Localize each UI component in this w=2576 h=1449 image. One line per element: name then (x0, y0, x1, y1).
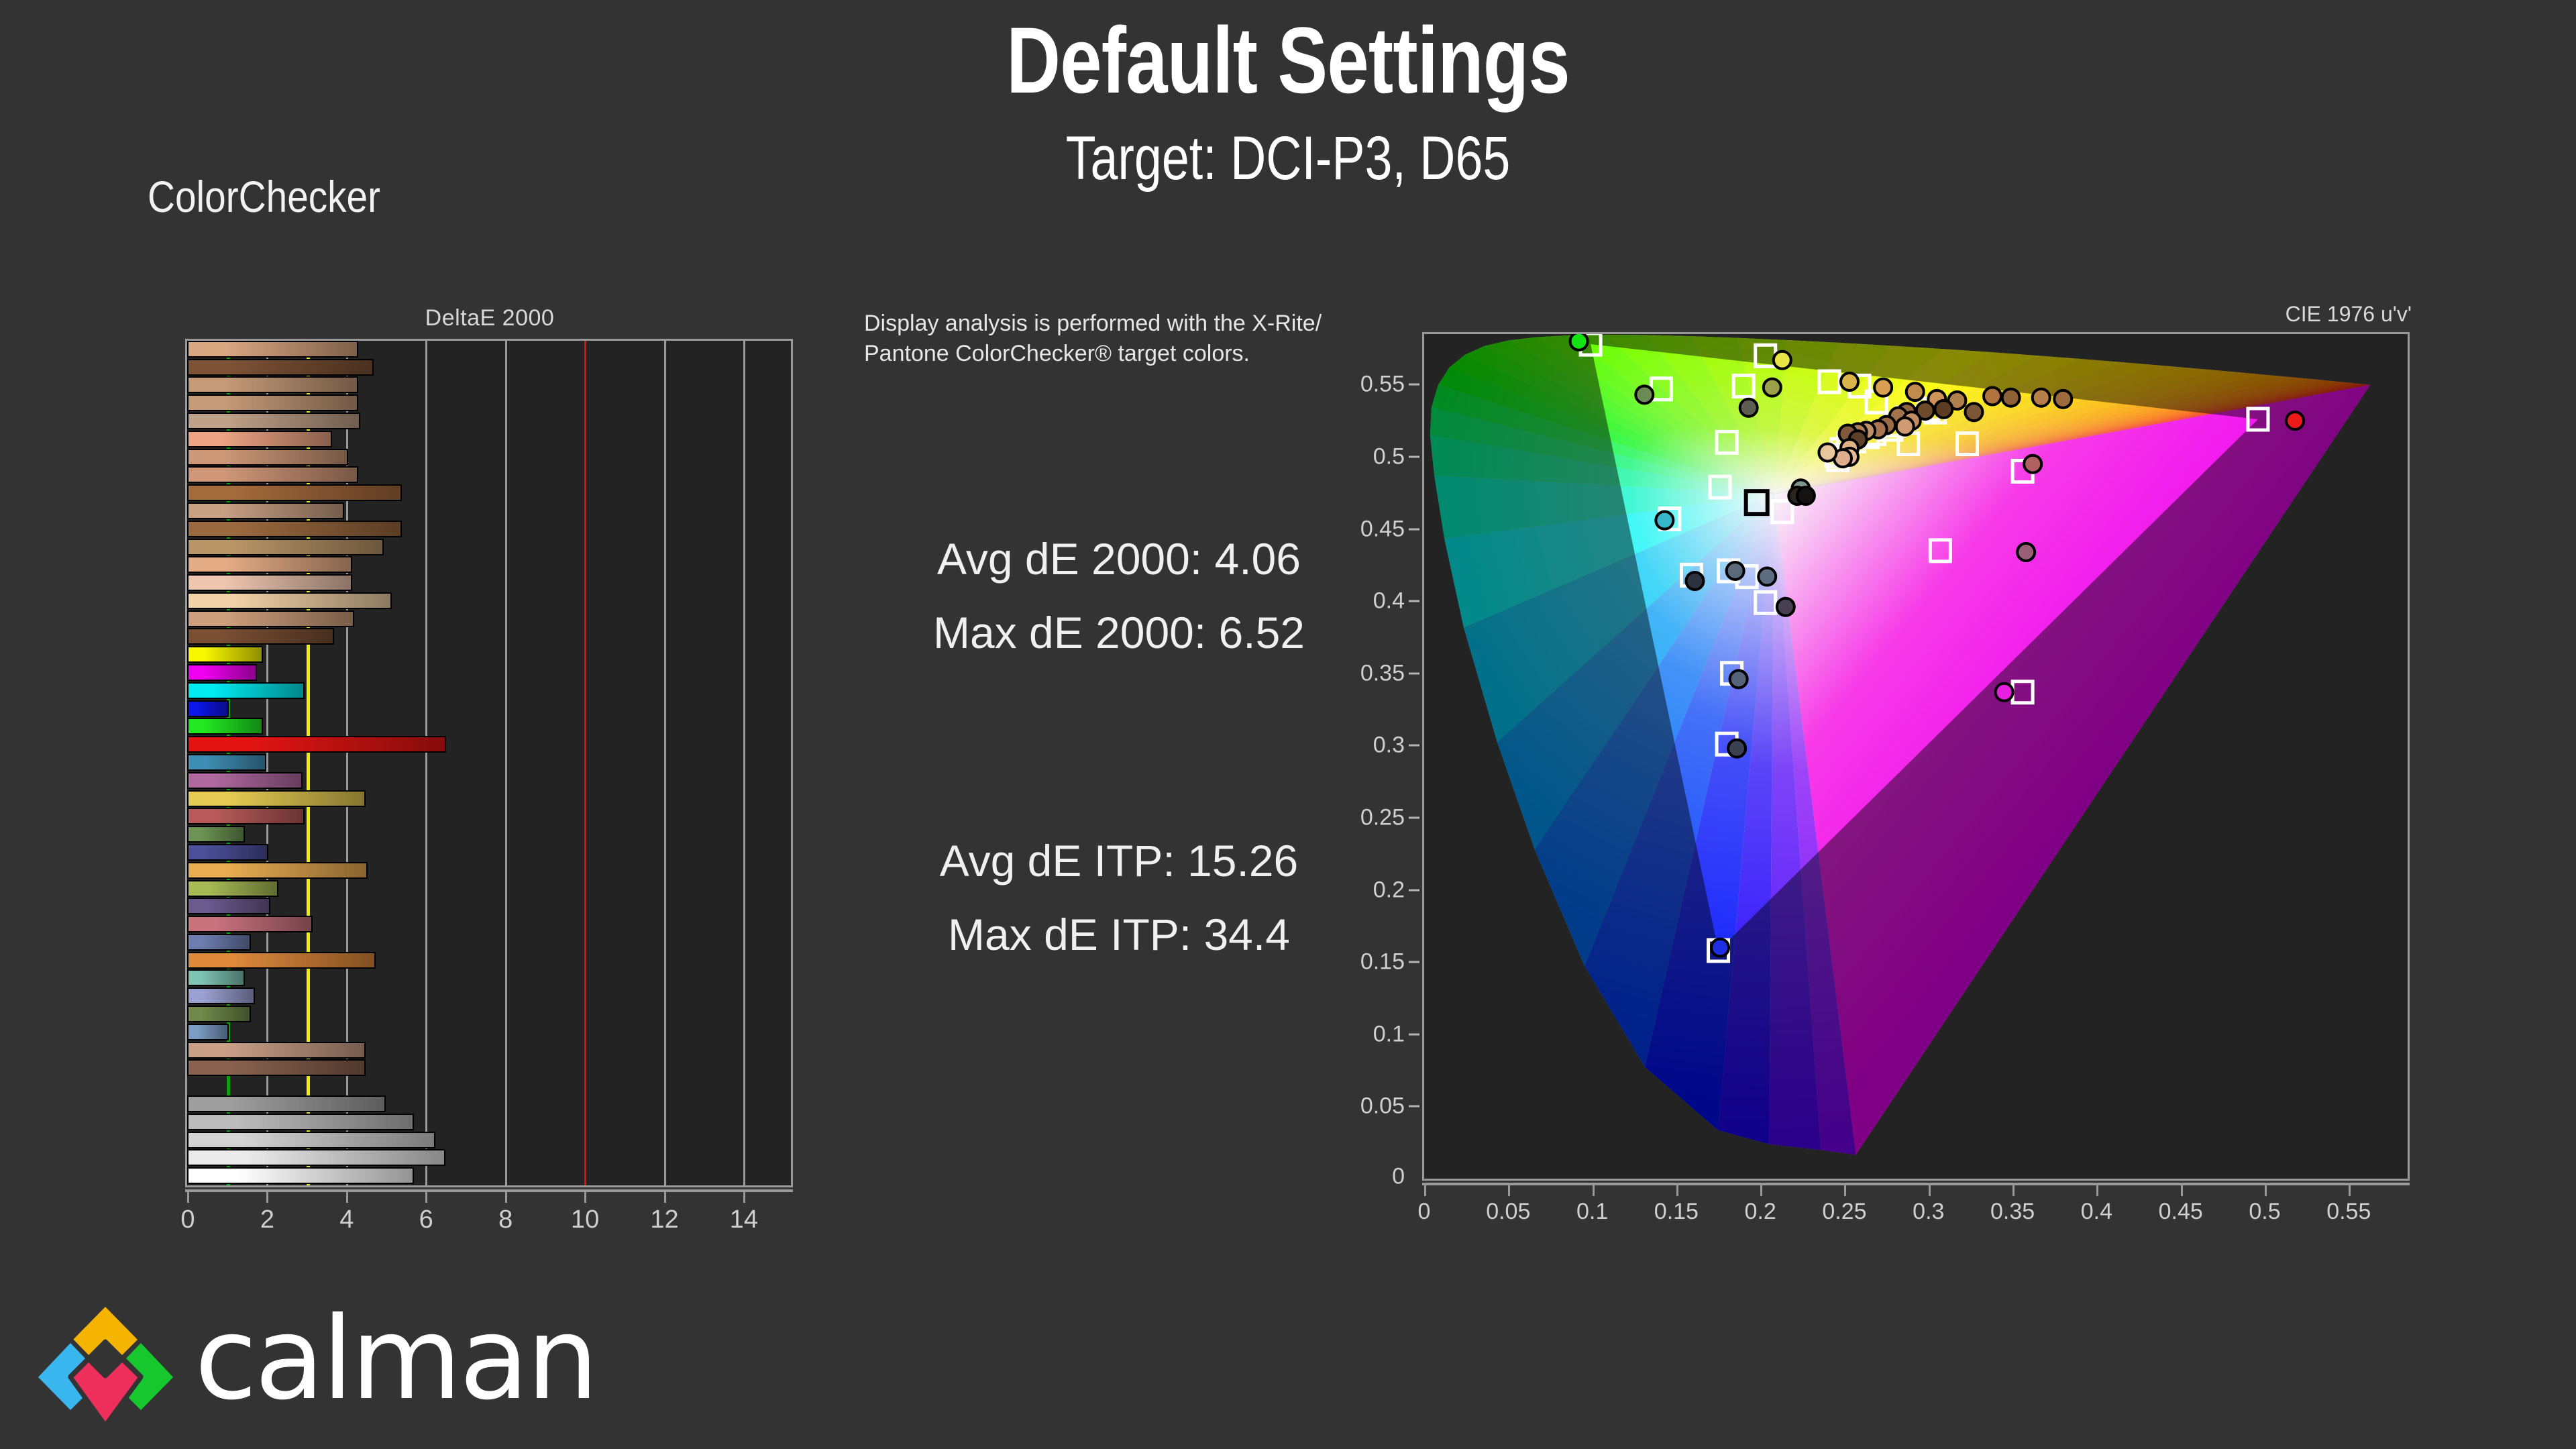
x-tick (2012, 1183, 2015, 1196)
deltae-bar (187, 556, 352, 573)
y-tick-label: 0.55 (1360, 372, 1405, 398)
deltae-bar (187, 466, 358, 483)
x-tick (505, 1189, 507, 1203)
cie-chromaticity-panel: CIE 1976 u'v' 00.050.10.150.20.250.30.35… (1368, 302, 2415, 1214)
x-tick-label: 12 (650, 1205, 678, 1234)
deltae-bar (187, 1167, 414, 1184)
x-tick-label: 0.35 (1990, 1199, 2035, 1225)
deltae-bar (187, 916, 313, 932)
colorchecker-section-label: ColorChecker (148, 171, 380, 222)
x-tick (1508, 1183, 1510, 1196)
measurement-point (2054, 390, 2072, 408)
y-tick-label: 0 (1392, 1164, 1405, 1190)
x-tick (1844, 1183, 1846, 1196)
stat-max-de2000: Max dE 2000: 6.52 (864, 607, 1374, 658)
y-tick-label: 0.05 (1360, 1093, 1405, 1120)
y-tick (1409, 672, 1419, 674)
y-tick-label: 0.1 (1373, 1021, 1405, 1047)
x-tick (1593, 1183, 1595, 1196)
stat-max-deitp: Max dE ITP: 34.4 (864, 909, 1374, 960)
analysis-note: Display analysis is performed with the X… (864, 309, 1374, 369)
deltae-bar (187, 862, 368, 879)
measurement-point (1996, 684, 2013, 701)
cie-plot-area (1422, 332, 2410, 1181)
red-threshold (584, 341, 586, 1185)
deltae-bar (187, 969, 245, 986)
x-tick (1929, 1183, 1931, 1196)
y-tick-label: 0.25 (1360, 804, 1405, 830)
x-tick (743, 1189, 745, 1203)
x-tick-label: 0.5 (2249, 1199, 2280, 1225)
measurement-point (1686, 572, 1703, 590)
analysis-note-line1: Display analysis is performed with the X… (864, 309, 1374, 339)
x-tick-label: 0 (1418, 1199, 1431, 1225)
deltae-bar (187, 1042, 366, 1059)
x-tick-label: 0.15 (1654, 1199, 1699, 1225)
deltae-bar (187, 1024, 229, 1040)
deltae-bar (187, 808, 305, 824)
deltae-bar (187, 1006, 251, 1022)
deltae-bar (187, 664, 257, 681)
deltae-bar (187, 880, 278, 897)
y-tick (1409, 961, 1419, 963)
y-tick (1409, 745, 1419, 747)
x-tick (2096, 1183, 2098, 1196)
stat-avg-de2000: Avg dE 2000: 4.06 (864, 533, 1374, 584)
measurement-point (1570, 334, 1588, 350)
deltae-bar (187, 790, 366, 807)
gridline-14 (743, 341, 745, 1185)
page-subtitle: Target: DCI-P3, D65 (258, 127, 2318, 189)
calman-logo: calman (34, 1298, 671, 1426)
deltae-x-axis: 02468101214 (185, 1189, 793, 1250)
y-tick (1409, 889, 1419, 891)
measurement-point (1727, 562, 1744, 580)
y-tick-label: 0.3 (1373, 733, 1405, 759)
x-tick-label: 0.55 (2326, 1199, 2371, 1225)
deltae-bar (187, 431, 332, 447)
measurement-point (1984, 388, 2001, 405)
analysis-note-line2: Pantone ColorChecker® target colors. (864, 339, 1374, 369)
deltae-bar (187, 682, 305, 699)
deltae-bar (187, 754, 266, 771)
measurement-point (1797, 487, 1815, 504)
measurement-point (1935, 400, 1952, 418)
deltae-bar (187, 521, 402, 537)
measurement-point (1656, 512, 1673, 529)
deltae-bar (187, 934, 251, 951)
y-tick (1409, 816, 1419, 818)
deltae-plot-area (185, 339, 793, 1187)
measurement-point (1728, 740, 1746, 757)
measurement-point (1841, 373, 1858, 390)
cie-diagram-svg (1424, 334, 2408, 1179)
deltae-bar (187, 502, 344, 519)
deltae-bar-chart-panel: DeltaE 2000 02468101214 (174, 305, 805, 1218)
gridline-12 (664, 341, 666, 1185)
measurement-point (1711, 939, 1729, 957)
measurement-point (1758, 568, 1776, 586)
deltae-bar (187, 359, 374, 376)
measurement-point (1819, 443, 1836, 461)
x-tick-label: 10 (571, 1205, 599, 1234)
x-tick-label: 14 (730, 1205, 758, 1234)
measurement-point (1896, 418, 1914, 435)
stat-avg-deitp: Avg dE ITP: 15.26 (864, 835, 1374, 886)
x-tick (1676, 1183, 1678, 1196)
x-tick (187, 1189, 189, 1203)
measurement-point (1874, 379, 1892, 396)
x-tick-label: 8 (498, 1205, 513, 1234)
x-tick-label: 4 (339, 1205, 354, 1234)
deltae-bar (187, 844, 268, 861)
deltae-bar (187, 718, 263, 735)
measurement-point (1635, 386, 1653, 403)
deltae-bar (187, 898, 270, 914)
x-tick (2181, 1183, 2183, 1196)
cie-y-axis: 00.050.10.150.20.250.30.350.40.450.50.55 (1368, 332, 1422, 1181)
x-tick (266, 1189, 268, 1203)
axis-line (185, 1189, 793, 1192)
y-tick-label: 0.45 (1360, 516, 1405, 542)
x-tick-label: 6 (419, 1205, 433, 1234)
x-tick-label: 0 (180, 1205, 195, 1234)
axis-line (1422, 1183, 2410, 1185)
deltae-bar (187, 952, 376, 969)
deltae-bar (187, 341, 358, 358)
x-tick (346, 1189, 348, 1203)
measurement-point (2286, 412, 2304, 429)
y-tick (1409, 600, 1419, 602)
deltae-bar (187, 987, 255, 1004)
x-tick (584, 1189, 586, 1203)
deltae-bar (187, 394, 358, 411)
measurement-point (2024, 455, 2041, 473)
x-tick-label: 0.1 (1576, 1199, 1608, 1225)
x-tick (2349, 1183, 2351, 1196)
deltae-bar (187, 826, 245, 843)
deltae-bar (187, 539, 384, 555)
measurement-point (1740, 399, 1758, 417)
x-tick-label: 0.2 (1745, 1199, 1776, 1225)
gridline-8 (505, 341, 507, 1185)
y-tick (1409, 384, 1419, 386)
x-tick-label: 2 (260, 1205, 274, 1234)
calman-wordmark: calman (195, 1293, 596, 1426)
deltae-bar (187, 574, 352, 591)
deltae-bar (187, 449, 348, 466)
measurement-point (1907, 383, 1924, 400)
measurement-point (2033, 389, 2050, 407)
x-tick-label: 0.05 (1486, 1199, 1530, 1225)
x-tick (2265, 1183, 2267, 1196)
measurement-point (2017, 543, 2035, 561)
deltae-bar (187, 736, 446, 753)
measurement-point (2002, 389, 2020, 407)
page-title: Default Settings (258, 13, 2318, 107)
deltae-bar (187, 592, 392, 609)
y-tick-label: 0.5 (1373, 443, 1405, 470)
deltae-bar (187, 646, 263, 663)
y-tick-label: 0.4 (1373, 588, 1405, 614)
y-tick-label: 0.2 (1373, 877, 1405, 903)
deltae-bar (187, 376, 358, 393)
deltae-bar (187, 772, 303, 789)
deltae-chart-title: DeltaE 2000 (174, 305, 805, 331)
y-tick (1409, 528, 1419, 530)
x-tick-label: 0.45 (2159, 1199, 2203, 1225)
deltae-bar (187, 1149, 445, 1166)
x-tick (1424, 1183, 1426, 1196)
deltae-bar (187, 1059, 366, 1076)
x-tick (664, 1189, 666, 1203)
x-tick-label: 0.3 (1913, 1199, 1944, 1225)
cie-x-axis: 00.050.10.150.20.250.30.350.40.450.50.55 (1422, 1183, 2410, 1243)
y-tick (1409, 455, 1419, 458)
y-tick-label: 0.15 (1360, 949, 1405, 975)
out-of-gamut-shading (1424, 334, 2408, 1179)
y-tick (1409, 1033, 1419, 1035)
calman-diamond-icon (34, 1298, 178, 1429)
gridline-6 (425, 341, 427, 1185)
x-tick (425, 1189, 427, 1203)
deltae-bar (187, 700, 229, 717)
deltae-bar (187, 628, 334, 645)
deltae-bar (187, 1132, 435, 1148)
deltae-bar (187, 484, 402, 501)
measurement-point (1777, 598, 1794, 616)
deltae-bar (187, 1095, 386, 1112)
x-tick-label: 0.25 (1822, 1199, 1866, 1225)
y-tick (1409, 1106, 1419, 1108)
x-tick (1760, 1183, 1762, 1196)
x-tick-label: 0.4 (2081, 1199, 2112, 1225)
deltae-bar (187, 1114, 414, 1130)
y-tick-label: 0.35 (1360, 660, 1405, 686)
measurement-point (1965, 403, 1982, 421)
measurement-point (1730, 670, 1748, 688)
measurement-point (1774, 352, 1791, 369)
cie-chart-title: CIE 1976 u'v' (2286, 302, 2412, 327)
measurement-point (1764, 379, 1781, 396)
deltae-bar (187, 413, 360, 429)
deltae-bar (187, 610, 354, 627)
